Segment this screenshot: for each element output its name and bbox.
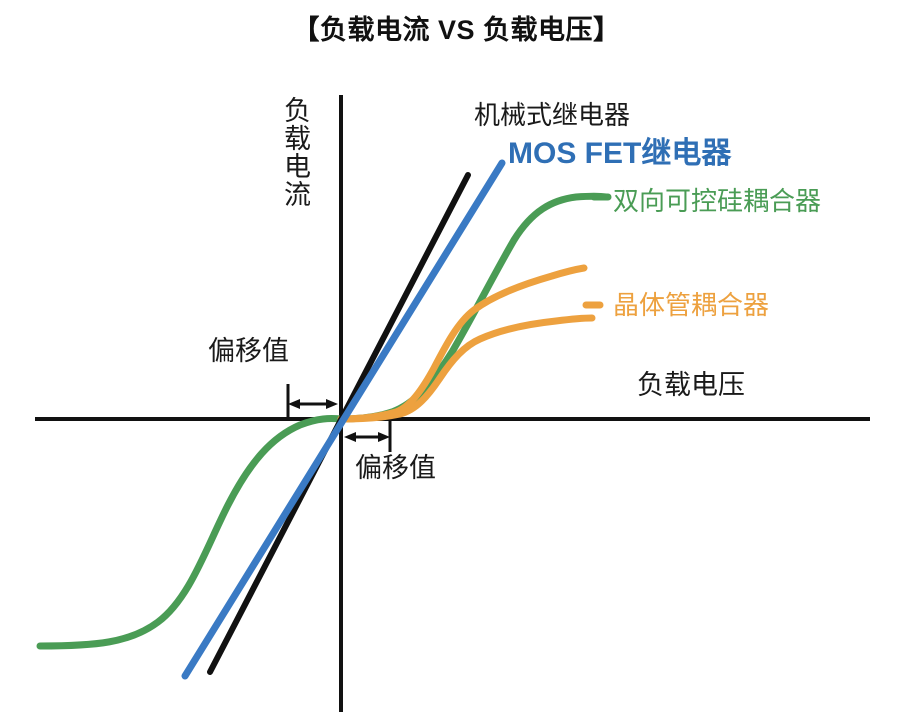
series-label-mosfet-relay: MOS FET继电器 <box>508 139 731 169</box>
x-axis-label: 负载电压 <box>637 372 745 399</box>
chart-plot-area <box>0 0 913 728</box>
series-label-transistor-coupler: 晶体管耦合器 <box>613 292 769 318</box>
annotation-offset-lower <box>344 421 390 452</box>
series-label-mechanical-relay: 机械式继电器 <box>474 102 630 128</box>
series-label-triac-coupler: 双向可控硅耦合器 <box>613 188 821 214</box>
annotation-label-offset-upper: 偏移值 <box>208 338 289 365</box>
series-line-triac-coupler <box>40 196 606 646</box>
y-axis-label: 负载电流 <box>274 96 308 208</box>
chart-root: 【负载电流 VS 负载电压】 <box>0 0 913 728</box>
annotation-label-offset-lower: 偏移值 <box>355 455 436 482</box>
annotation-offset-upper <box>288 384 338 418</box>
